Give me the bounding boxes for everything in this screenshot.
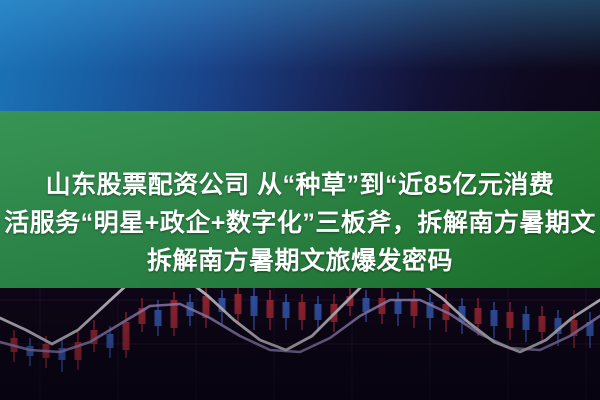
article-cover-image: 山东股票配资公司 从“种草”到“近85亿元消费 活服务“明星+政企+数字化”三板… <box>0 0 600 400</box>
headline-line-1: 山东股票配资公司 从“种草”到“近85亿元消费 <box>46 168 555 203</box>
top-blue-gradient-overlay <box>0 0 600 112</box>
headline-text-block: 山东股票配资公司 从“种草”到“近85亿元消费 活服务“明星+政企+数字化”三板… <box>0 111 600 288</box>
headline-line-3: 拆解南方暑期文旅爆发密码 <box>147 244 453 279</box>
headline-line-2: 活服务“明星+政企+数字化”三板斧，拆解南方暑期文 <box>4 206 596 241</box>
